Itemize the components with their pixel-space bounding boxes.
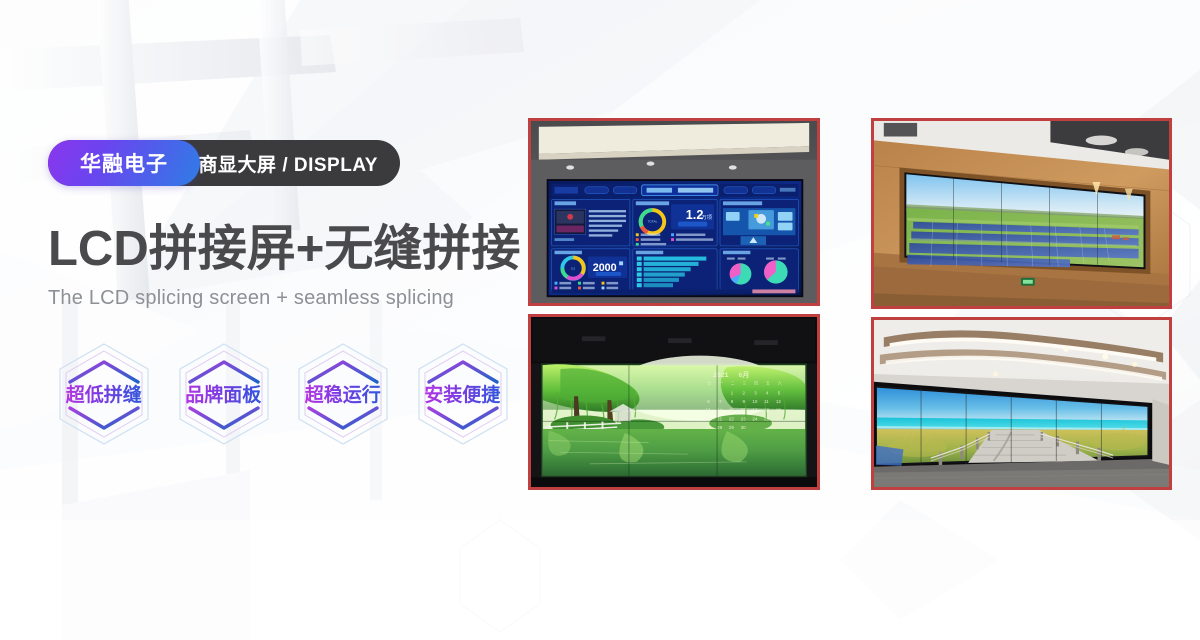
page-subtitle: The LCD splicing screen + seamless splic… (48, 287, 518, 310)
svg-text:万项: 万项 (701, 214, 712, 221)
svg-text:2021: 2021 (713, 372, 728, 379)
promo-banner: 商显大屏 / DISPLAY 华融电子 LCD拼接屏+无缝拼接 The LCD … (0, 0, 1200, 640)
svg-text:28: 28 (717, 425, 723, 430)
svg-text:22: 22 (729, 416, 735, 421)
product-photo-grid: TOTAL 1.2 万项 (528, 118, 1172, 490)
svg-text:TOTAL: TOTAL (648, 220, 658, 224)
svg-text:一: 一 (719, 381, 723, 386)
svg-text:六: 六 (778, 381, 782, 386)
svg-text:四: 四 (754, 381, 758, 386)
svg-text:16: 16 (741, 408, 747, 413)
svg-text:11: 11 (764, 399, 769, 404)
svg-text:29: 29 (729, 425, 735, 430)
feature-badge-1: 超低拼缝 (48, 338, 160, 450)
svg-text:三: 三 (743, 381, 747, 386)
svg-text:17: 17 (752, 408, 758, 413)
photo-park-scenery-video-wall: 2021 6月 日一二 三四五六 12345 6789101112 131415… (528, 314, 820, 490)
svg-text:13: 13 (705, 408, 711, 413)
svg-text:10: 10 (752, 399, 758, 404)
svg-text:30: 30 (741, 425, 747, 430)
feature-label-3: 超稳运行 (305, 380, 381, 407)
park-scene: 2021 6月 日一二 三四五六 12345 6789101112 131415… (531, 317, 817, 487)
page-title: LCD拼接屏+无缝拼接 (48, 224, 518, 275)
svg-text:12: 12 (776, 399, 782, 404)
svg-text:24: 24 (752, 416, 758, 421)
svg-text:23: 23 (741, 416, 747, 421)
svg-text:五: 五 (766, 381, 770, 386)
feature-badge-list: 超低拼缝 品牌面板 (48, 338, 518, 450)
brand-badge: 商显大屏 / DISPLAY 华融电子 (48, 140, 400, 186)
svg-text:21: 21 (717, 416, 723, 421)
svg-text:14: 14 (717, 408, 723, 413)
beach-scene (874, 320, 1169, 487)
brand-label: 华融电子 (80, 148, 168, 178)
feature-label-2: 品牌面板 (185, 380, 261, 407)
feature-label-1: 超低拼缝 (66, 380, 142, 407)
svg-text:25: 25 (764, 416, 770, 421)
svg-text:27: 27 (705, 425, 711, 430)
feature-badge-3: 超稳运行 (287, 338, 399, 450)
content-column: 商显大屏 / DISPLAY 华融电子 LCD拼接屏+无缝拼接 The LCD … (48, 140, 518, 450)
svg-text:18: 18 (764, 408, 770, 413)
svg-text:5.2: 5.2 (571, 267, 575, 271)
photo-dashboard-video-wall: TOTAL 1.2 万项 (528, 118, 820, 306)
photo-beach-boardwalk-video-wall (871, 317, 1172, 490)
dashboard-scene: TOTAL 1.2 万项 (531, 121, 817, 303)
feature-badge-4: 安装便捷 (407, 338, 519, 450)
feature-label-4: 安装便捷 (424, 380, 500, 407)
feature-badge-2: 品牌面板 (168, 338, 280, 450)
svg-text:26: 26 (776, 416, 782, 421)
svg-text:6月: 6月 (739, 371, 750, 379)
svg-text:19: 19 (776, 408, 782, 413)
photo-solar-farm-video-wall (871, 118, 1172, 309)
brand-pill: 华融电子 (48, 140, 200, 186)
svg-text:日: 日 (707, 381, 711, 386)
svg-text:20: 20 (705, 416, 711, 421)
solar-scene (874, 121, 1169, 306)
svg-text:15: 15 (729, 408, 735, 413)
svg-text:二: 二 (731, 381, 735, 386)
category-label: 商显大屏 / DISPLAY (199, 150, 378, 177)
